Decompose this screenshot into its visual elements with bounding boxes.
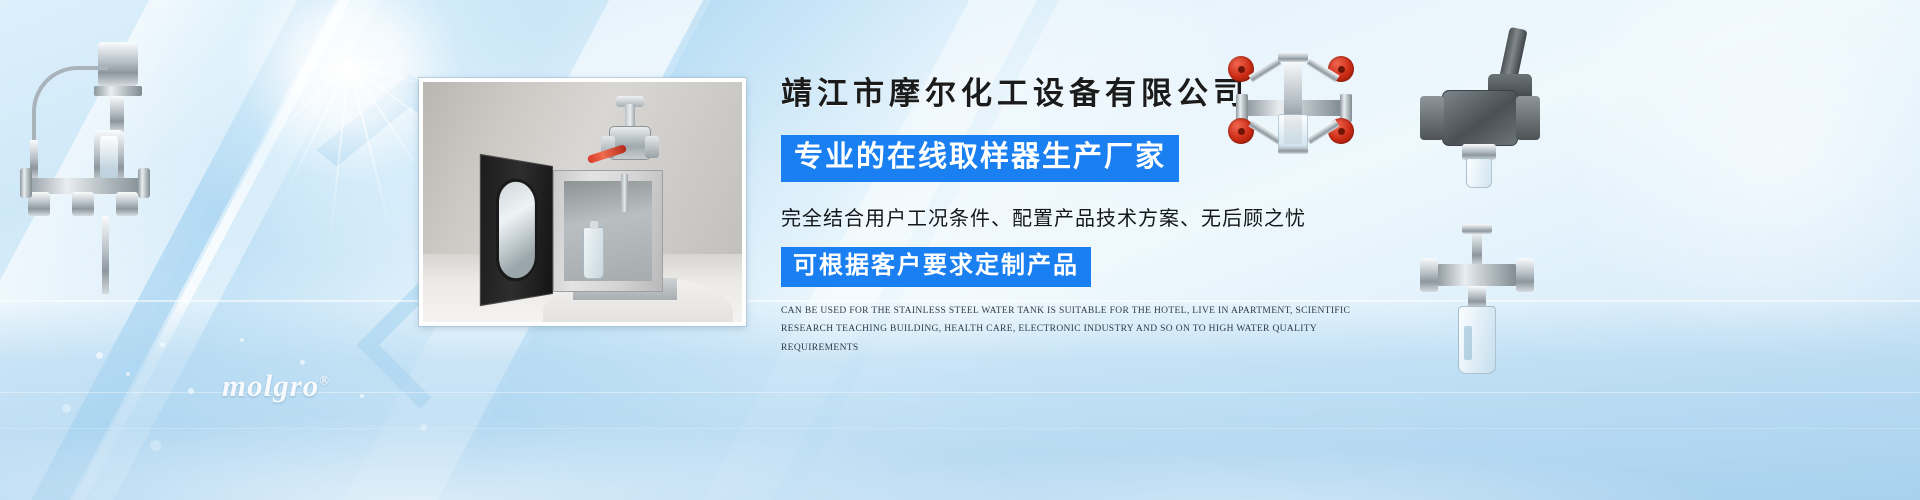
sample-downpipe xyxy=(621,174,628,212)
watermark-text: molgro xyxy=(222,368,319,403)
equipment-side-port xyxy=(20,168,32,198)
sun-ray xyxy=(264,61,352,101)
reflection-line xyxy=(0,428,1920,429)
sun-ray xyxy=(264,61,352,146)
registered-trademark-icon: ® xyxy=(319,373,330,388)
tagline-secondary-wrap: 可根据客户要求定制产品 xyxy=(781,247,1401,287)
water-droplet xyxy=(160,342,165,347)
left-equipment-illustration xyxy=(10,30,170,290)
english-description: CAN BE USED FOR THE STAINLESS STEEL WATE… xyxy=(781,302,1381,358)
door-window xyxy=(496,176,537,284)
sample-bottle xyxy=(583,227,604,279)
sun-ray xyxy=(348,62,393,237)
valve-flange-right xyxy=(645,136,659,158)
water-droplet xyxy=(300,360,305,365)
right-top-equipment-illustration xyxy=(1222,44,1364,154)
sun-ray xyxy=(329,62,350,241)
water-droplet xyxy=(62,404,71,413)
cabinet-door xyxy=(480,154,553,306)
tagline-secondary: 可根据客户要求定制产品 xyxy=(781,247,1091,287)
water-droplet xyxy=(150,440,161,451)
actuator-stem xyxy=(1472,230,1482,266)
water-droplet xyxy=(126,372,130,376)
right-mid-equipment-illustration xyxy=(1412,28,1544,188)
equipment-stem xyxy=(110,96,124,132)
water-droplet xyxy=(360,394,364,398)
sun-ray xyxy=(283,61,351,197)
body-flange-left xyxy=(1420,96,1444,140)
body-flange-right xyxy=(1516,96,1540,140)
value-proposition-line: 完全结合用户工况条件、配置产品技术方案、无后顾之忧 xyxy=(781,202,1401,231)
equipment-valve xyxy=(116,192,138,216)
equipment-sight-glass xyxy=(100,136,118,178)
product-hero-banner: 靖江市摩尔化工设备有限公司 专业的在线取样器生产厂家 完全结合用户工况条件、配置… xyxy=(0,0,1920,500)
equipment-probe xyxy=(102,216,109,294)
valve-flange-left xyxy=(1420,258,1438,292)
valve-neck xyxy=(1468,286,1486,308)
water-droplet xyxy=(96,352,103,359)
valve-body xyxy=(1436,264,1518,286)
right-glow xyxy=(1520,0,1920,360)
sample-bottle xyxy=(1466,158,1492,188)
water-droplet xyxy=(240,338,244,342)
right-bottom-equipment-illustration xyxy=(1418,230,1544,390)
bottle-liquid-level xyxy=(1464,326,1472,360)
equipment-side-port xyxy=(138,168,150,198)
cast-valve-body xyxy=(1442,90,1518,146)
actuator-cap xyxy=(1462,224,1492,234)
sampler-valve-head xyxy=(599,106,661,176)
sight-glass xyxy=(1278,114,1308,148)
cabinet-interior xyxy=(564,181,652,281)
tagline-primary: 专业的在线取样器生产厂家 xyxy=(781,135,1179,182)
valve-flange-right xyxy=(1516,258,1534,292)
water-droplet xyxy=(188,388,194,394)
manifold-port xyxy=(1278,52,1308,62)
sun-ray xyxy=(348,56,423,66)
sun-ray xyxy=(277,62,352,69)
watermark: molgro® xyxy=(222,368,330,404)
product-photo[interactable] xyxy=(419,78,746,326)
valve-stem xyxy=(625,104,635,128)
equipment-valve xyxy=(72,192,94,216)
water-droplet xyxy=(420,424,427,431)
sampler-cabinet xyxy=(553,170,663,292)
